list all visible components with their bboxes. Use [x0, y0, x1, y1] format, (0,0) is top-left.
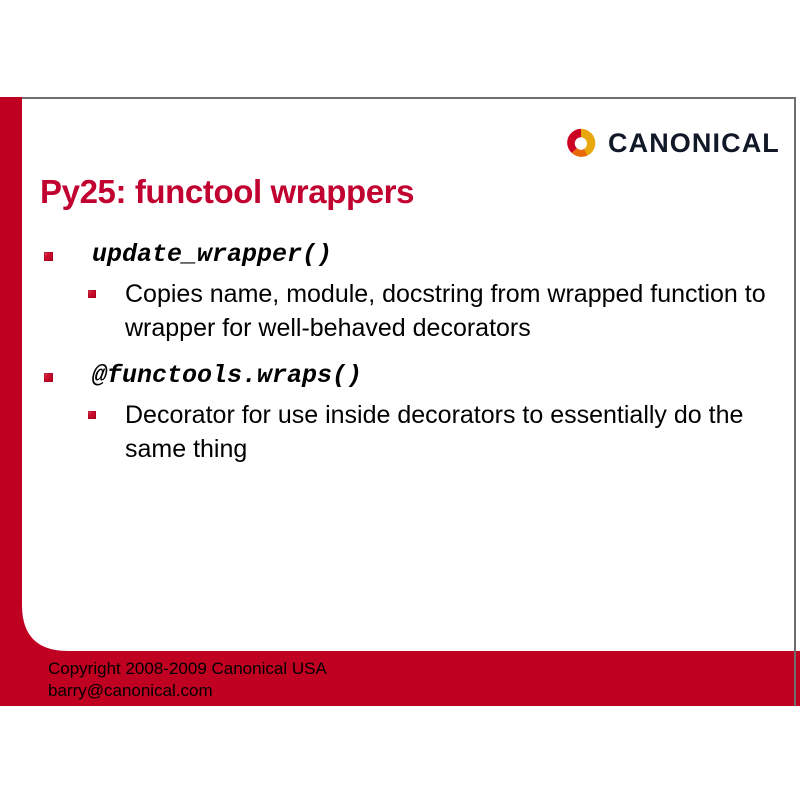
- bullet-square-icon: [44, 373, 53, 382]
- canonical-wordmark: CANONICAL: [608, 130, 780, 157]
- bullet-level2: Decorator for use inside decorators to e…: [36, 399, 766, 467]
- footer-copyright: Copyright 2008-2009 Canonical USA: [48, 658, 648, 680]
- slide-footer: Copyright 2008-2009 Canonical USA barry@…: [48, 658, 648, 706]
- bullet-square-icon: [88, 290, 96, 298]
- slide-canvas: CANONICAL Py25: functool wrappers update…: [0, 97, 800, 706]
- bullet-square-icon: [44, 252, 53, 261]
- bullet-level1: @functools.wraps(): [36, 360, 766, 391]
- footer-email: barry@canonical.com: [48, 680, 648, 702]
- bullet-level1: update_wrapper(): [36, 239, 766, 270]
- slide-body: update_wrapper() Copies name, module, do…: [36, 239, 766, 481]
- bullet-text: @functools.wraps(): [92, 361, 362, 390]
- canonical-logo: CANONICAL: [565, 123, 780, 163]
- bullet-text: update_wrapper(): [92, 240, 332, 269]
- bullet-level2: Copies name, module, docstring from wrap…: [36, 278, 766, 346]
- page-title: Py25: functool wrappers: [40, 173, 414, 211]
- bullet-square-icon: [88, 411, 96, 419]
- canonical-circle-of-friends-icon: [565, 127, 597, 159]
- bullet-text: Copies name, module, docstring from wrap…: [125, 280, 766, 342]
- slide-right-border: [794, 97, 796, 706]
- bullet-text: Decorator for use inside decorators to e…: [125, 401, 743, 463]
- slide-top-border: [22, 97, 795, 99]
